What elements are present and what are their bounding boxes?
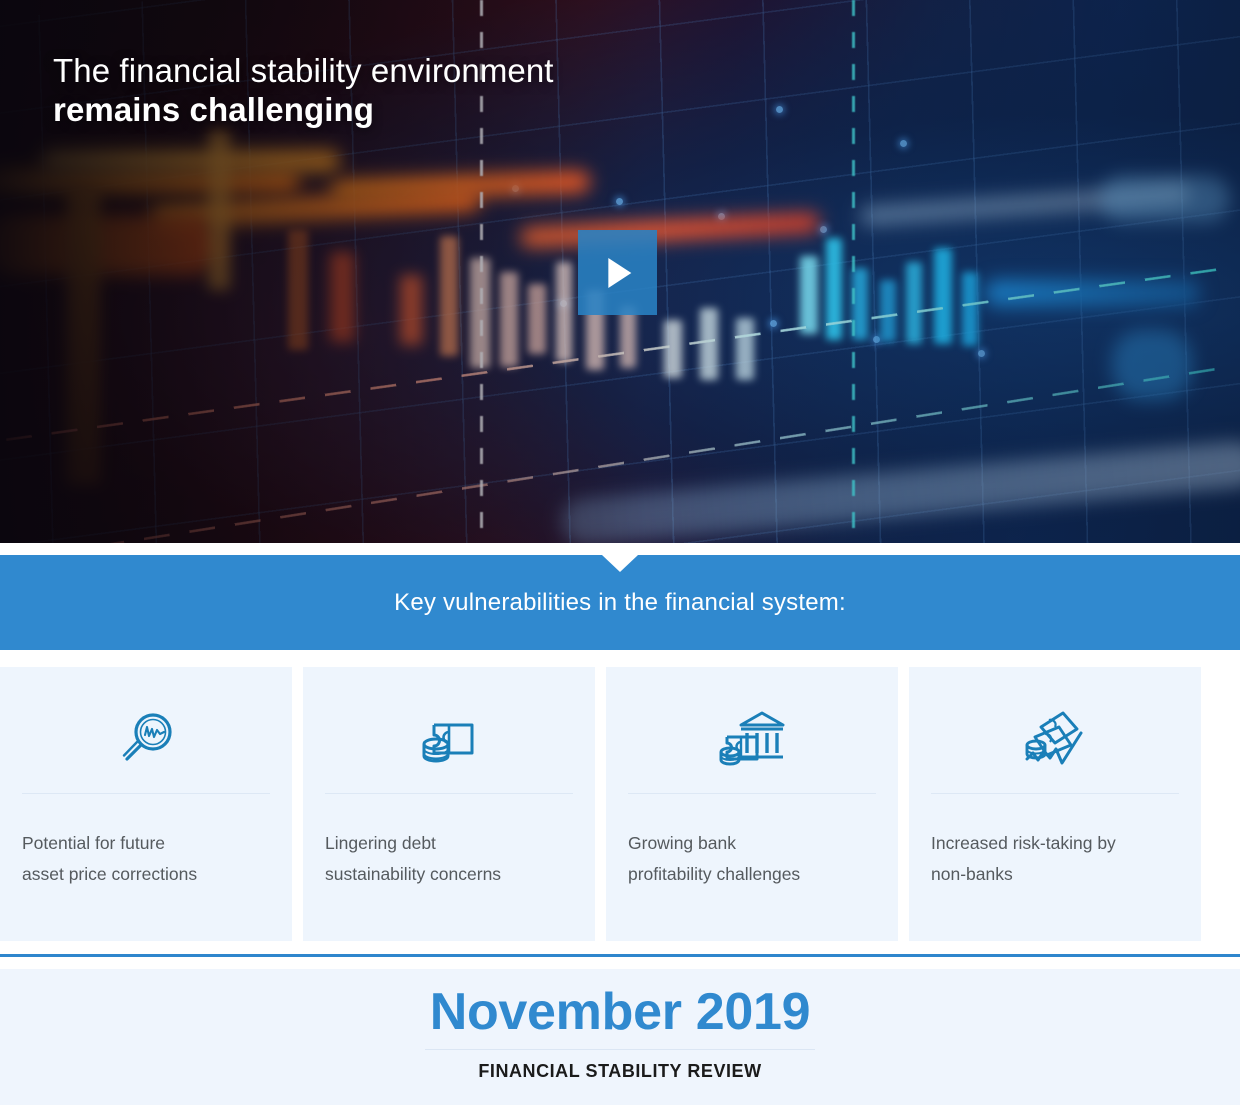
card-label-line-1: Lingering debt: [325, 833, 436, 853]
vulnerability-card[interactable]: Lingering debt sustainability concerns: [303, 667, 595, 941]
play-triangle-icon: [608, 258, 631, 288]
card-label-line-1: Increased risk-taking by: [931, 833, 1116, 853]
financial-stability-review-page: The financial stability environment rema…: [0, 0, 1240, 1117]
card-label-line-2: sustainability concerns: [325, 864, 501, 884]
hero-title: The financial stability environment rema…: [53, 52, 554, 130]
vulnerability-card[interactable]: Growing bank profitability challenges: [606, 667, 898, 941]
footer-separator: [425, 1049, 815, 1050]
vulnerability-card[interactable]: Potential for future asset price correct…: [0, 667, 292, 941]
banner-heading: Key vulnerabilities in the financial sys…: [394, 589, 846, 617]
card-label: Potential for future asset price correct…: [22, 828, 270, 890]
key-vulnerabilities-banner: Key vulnerabilities in the financial sys…: [0, 555, 1240, 650]
publication-footer: November 2019 FINANCIAL STABILITY REVIEW: [0, 969, 1240, 1105]
publication-title: FINANCIAL STABILITY REVIEW: [478, 1061, 761, 1082]
vulnerability-cards-row: Potential for future asset price correct…: [0, 650, 1240, 941]
card-divider: [22, 793, 270, 794]
coins-puzzle-icon: [325, 691, 573, 789]
bank-building-coins-icon: [628, 691, 876, 789]
card-divider: [628, 793, 876, 794]
card-label-line-2: asset price corrections: [22, 864, 197, 884]
banknotes-coins-trend-icon: [931, 691, 1179, 789]
card-label: Lingering debt sustainability concerns: [325, 828, 573, 890]
card-label-line-2: profitability challenges: [628, 864, 800, 884]
card-label-line-1: Potential for future: [22, 833, 165, 853]
magnifier-chart-icon: [22, 691, 270, 789]
card-label: Increased risk-taking by non-banks: [931, 828, 1179, 890]
vulnerability-card[interactable]: Increased risk-taking by non-banks: [909, 667, 1201, 941]
publication-date: November 2019: [430, 980, 811, 1045]
hero-title-line-1: The financial stability environment: [53, 52, 554, 91]
video-play-button[interactable]: [578, 230, 657, 315]
hero-banner: The financial stability environment rema…: [0, 0, 1240, 543]
card-label-line-2: non-banks: [931, 864, 1013, 884]
hero-title-line-2: remains challenging: [53, 91, 554, 130]
card-label-line-1: Growing bank: [628, 833, 736, 853]
card-divider: [325, 793, 573, 794]
card-label: Growing bank profitability challenges: [628, 828, 876, 890]
card-divider: [931, 793, 1179, 794]
footer-top-rule: [0, 954, 1240, 957]
